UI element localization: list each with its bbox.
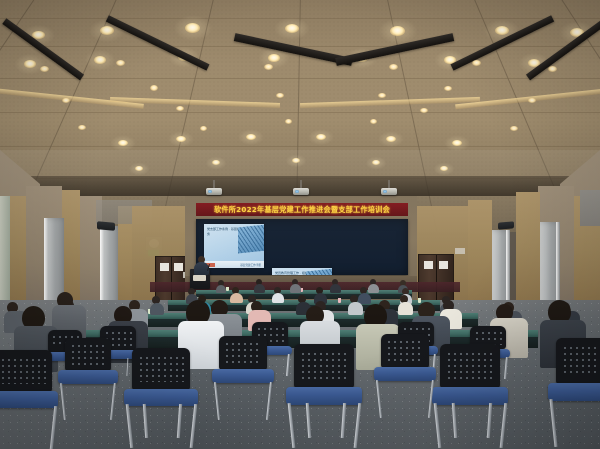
ceiling-downlight xyxy=(390,26,405,36)
chair-seat xyxy=(0,391,58,408)
chair-leg xyxy=(190,404,198,448)
ceiling-downlight xyxy=(285,24,299,33)
chair-leg xyxy=(177,404,182,438)
chair-leg xyxy=(306,403,311,438)
projection-screen: 党支部工作条例 · 基层组织 党建工作实务 基层党建工作手册 党员教育管理工作 … xyxy=(196,219,408,275)
event-banner: 软件所2022年基层党建工作推进会暨支部工作培训会 xyxy=(196,203,408,216)
ceiling-downlight xyxy=(118,140,128,146)
chair-backrest xyxy=(132,348,190,390)
ceiling-downlight xyxy=(292,158,300,163)
ceiling-downlight xyxy=(495,26,509,35)
chair-leg xyxy=(549,399,557,447)
chair-foreground[interactable] xyxy=(58,338,118,422)
chair-leg xyxy=(288,403,296,448)
wall-notice-right xyxy=(455,248,465,254)
podium-logo-icon xyxy=(193,275,206,281)
projector-3 xyxy=(381,188,397,195)
chair-foreground[interactable] xyxy=(124,348,198,448)
chair-leg xyxy=(126,404,134,448)
left-window-light xyxy=(0,196,10,314)
chair-seat xyxy=(548,383,600,401)
wall-speaker-left xyxy=(97,221,115,231)
chair-foreground[interactable] xyxy=(0,350,58,449)
ceiling-downlight xyxy=(440,166,448,171)
chair-foreground[interactable] xyxy=(432,344,508,448)
chair-foreground[interactable] xyxy=(548,338,600,448)
wall-speaker-right xyxy=(498,221,514,229)
chair-leg xyxy=(354,403,362,448)
right-wood-strip xyxy=(516,192,540,314)
chair-seat xyxy=(286,387,362,405)
chair-seat xyxy=(124,389,198,406)
ceiling-downlight xyxy=(176,136,186,142)
paper-cup xyxy=(418,298,421,303)
ceiling-downlight xyxy=(452,140,462,146)
projector-1 xyxy=(206,188,222,195)
chair-leg xyxy=(500,403,508,448)
projector-2 xyxy=(293,188,309,195)
chair-leg xyxy=(143,404,148,438)
chair-foreground[interactable] xyxy=(374,334,436,420)
chair-backrest xyxy=(0,350,52,392)
chair-seat xyxy=(432,387,508,405)
ceiling-downlight xyxy=(316,134,326,140)
chair-backrest xyxy=(556,338,600,384)
slide-card: 党支部工作条例 · 基层组织 党建工作实务 基层党建工作手册 xyxy=(204,224,264,268)
slide-graphic-icon xyxy=(238,225,264,254)
ceiling-downlight xyxy=(372,160,380,165)
chair-backrest xyxy=(440,344,500,388)
ceiling-downlight xyxy=(246,134,256,140)
ceiling-downlight xyxy=(212,160,220,165)
chair-backrest xyxy=(294,344,354,388)
chair-foreground[interactable] xyxy=(212,336,274,422)
chair-leg xyxy=(50,406,58,449)
paper-cup xyxy=(338,298,341,303)
ceiling-downlight xyxy=(268,54,280,62)
chair-leg xyxy=(341,403,346,438)
door-sign-left-2 xyxy=(174,263,183,271)
right-wood-strip-2 xyxy=(468,200,492,314)
conference-hall-photo: 软件所2022年基层党建工作推进会暨支部工作培训会 党支部工作条例 · 基层组织… xyxy=(0,0,600,449)
ceiling-downlight xyxy=(24,60,36,68)
chair-leg xyxy=(452,403,457,438)
ceiling-downlight xyxy=(135,166,143,171)
ceiling-downlight xyxy=(386,136,396,142)
door-sign-right-1 xyxy=(424,261,433,269)
slide-card: 党员教育管理工作 · 组织生活 制度学习读本 党员教育读本 xyxy=(272,268,332,275)
door-sign-right-2 xyxy=(439,261,448,269)
chair-leg xyxy=(487,403,492,438)
chair-foreground[interactable] xyxy=(286,344,362,448)
paper-cup xyxy=(226,287,229,291)
slide-card-footer-text: 基层党建工作手册 xyxy=(240,263,261,267)
ceiling-downlight xyxy=(100,26,114,35)
right-upper-wall xyxy=(580,190,600,226)
ceiling-downlight xyxy=(94,56,106,64)
ceiling-downlight xyxy=(185,23,200,33)
door-sign-left-1 xyxy=(160,263,169,271)
event-banner-text: 软件所2022年基层党建工作推进会暨支部工作培训会 xyxy=(214,205,390,215)
